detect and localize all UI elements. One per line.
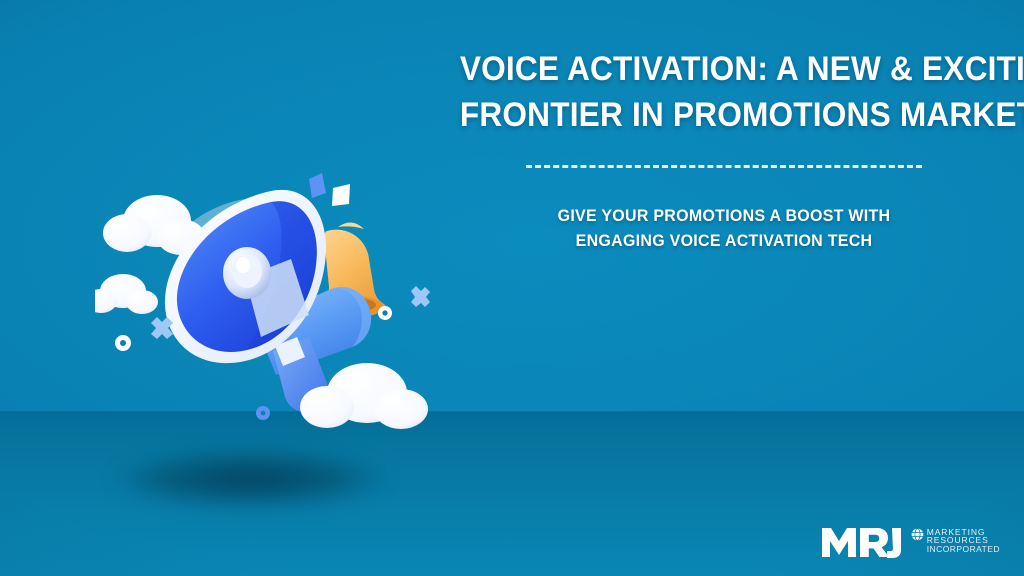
cloud-small-left	[95, 274, 158, 314]
headline-line-2: FRONTIER IN PROMOTIONS MARKETING	[460, 92, 988, 138]
subhead-line-2: ENGAGING VOICE ACTIVATION TECH	[457, 228, 991, 253]
brand-logo[interactable]: MARKETING RESOURCES INCORPORATED	[820, 524, 1000, 558]
text-block: VOICE ACTIVATION: A NEW & EXCITING FRONT…	[440, 46, 1008, 253]
logo-wordmark-text: MARKETING RESOURCES INCORPORATED	[927, 528, 1000, 554]
cone-center-knob	[223, 247, 271, 299]
subhead-line-1: GIVE YOUR PROMOTIONS A BOOST WITH	[457, 203, 991, 228]
megaphone-illustration	[95, 155, 455, 455]
globe-icon	[911, 528, 924, 541]
dashed-divider	[526, 165, 922, 168]
confetti-sparks	[309, 173, 350, 206]
mri-wordmark-icon	[820, 524, 906, 558]
headline-line-1: VOICE ACTIVATION: A NEW & EXCITING	[460, 46, 988, 92]
logo-line-3: INCORPORATED	[927, 545, 1000, 554]
promotional-banner: VOICE ACTIVATION: A NEW & EXCITING FRONT…	[0, 0, 1024, 576]
